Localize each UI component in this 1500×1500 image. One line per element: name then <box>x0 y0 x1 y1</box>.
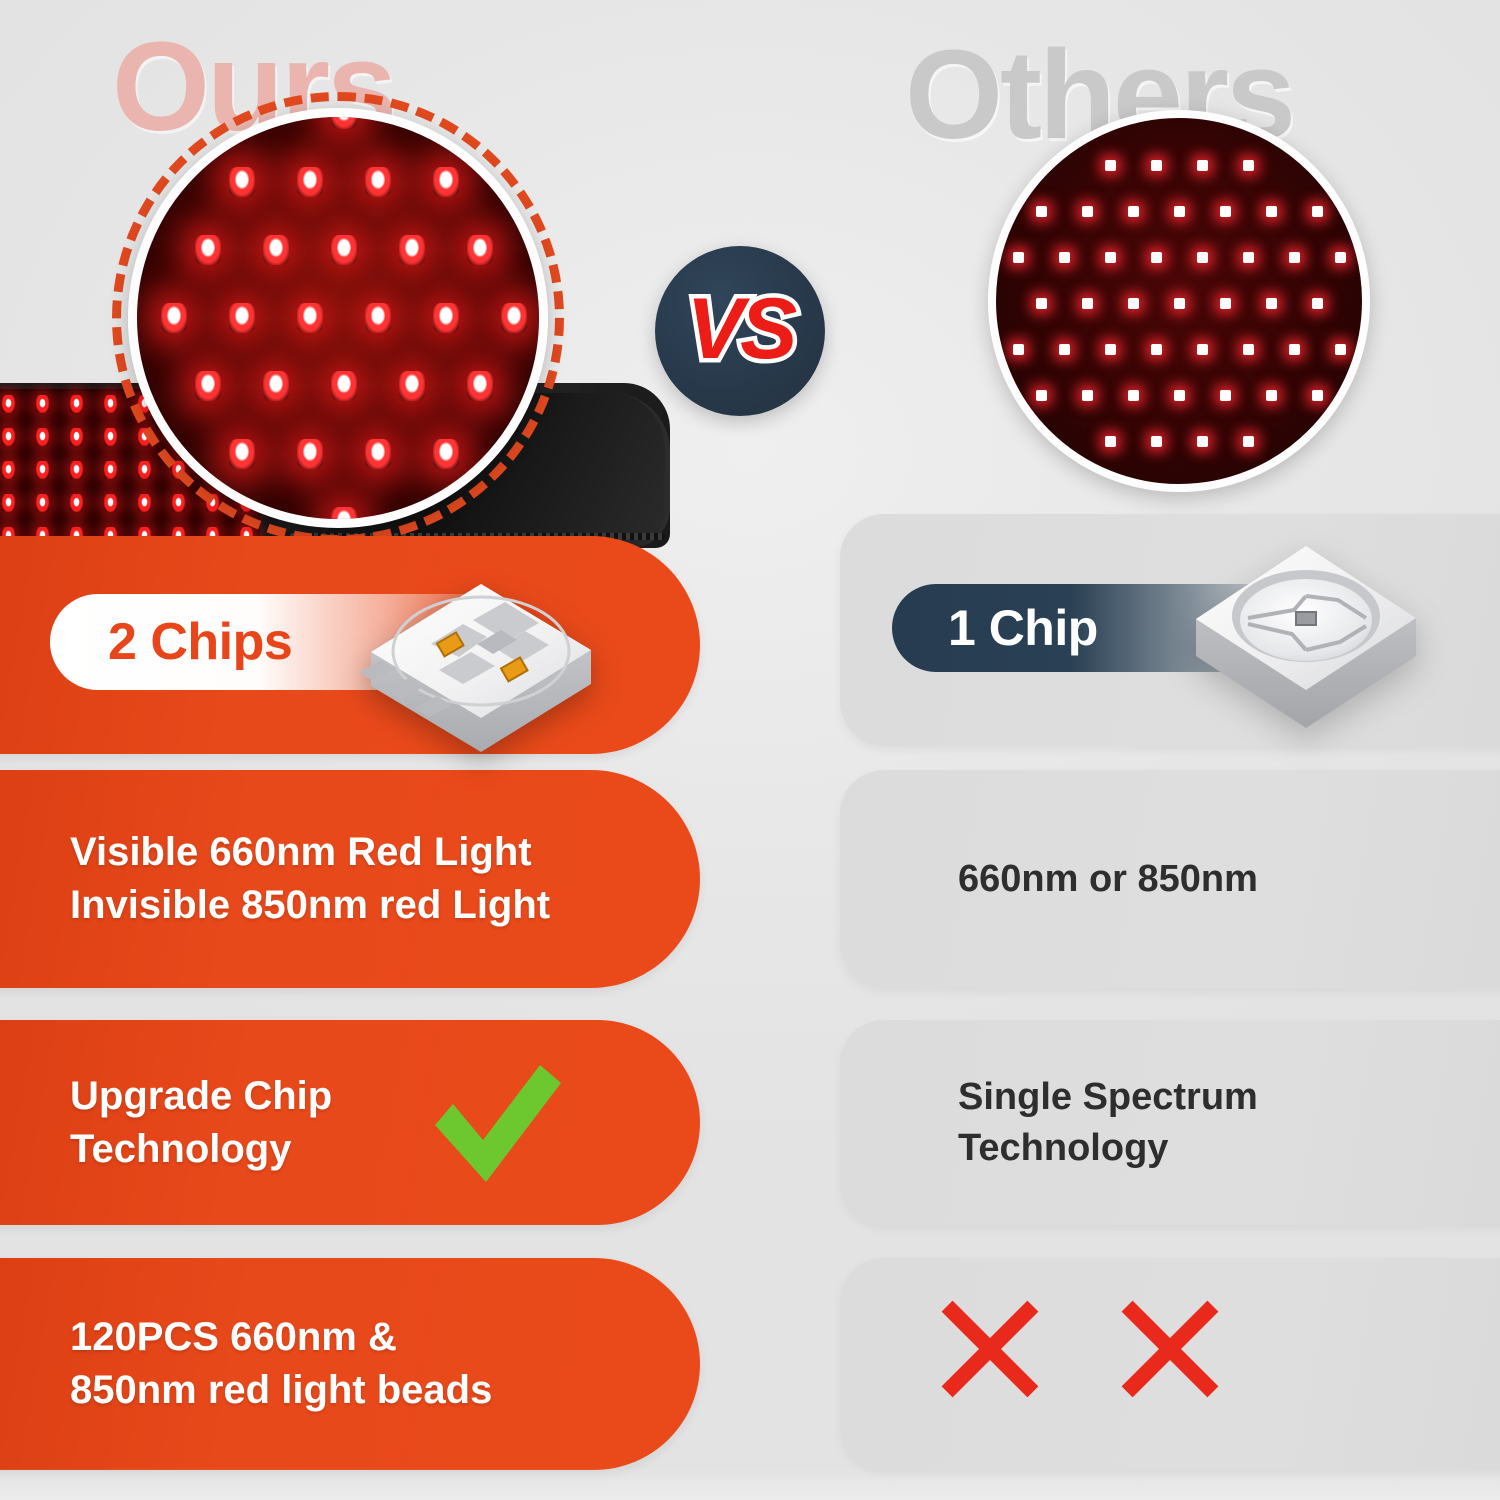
ours-row-beads: 120PCS 660nm & 850nm red light beads <box>0 1258 700 1470</box>
others-led-grid <box>988 110 1370 492</box>
led-dot <box>1082 298 1093 309</box>
vs-badge: VS <box>655 246 825 416</box>
led-dot <box>36 395 49 413</box>
led-dot <box>365 439 391 469</box>
led-dot <box>1335 344 1346 355</box>
ours-led-grid <box>128 108 548 528</box>
led-dot <box>1197 160 1208 171</box>
led-dot <box>1013 344 1024 355</box>
led-dot <box>1174 298 1185 309</box>
led-dot <box>1266 206 1277 217</box>
led-dot <box>36 494 49 512</box>
led-dot <box>1105 436 1116 447</box>
ours-chips-label: 2 Chips <box>50 612 292 672</box>
ours-row-technology: Upgrade Chip Technology <box>0 1020 700 1225</box>
led-dot <box>36 428 49 446</box>
led-dot <box>1105 252 1116 263</box>
led-dot <box>1151 160 1162 171</box>
red-cross-icon <box>1115 1294 1225 1404</box>
two-chip-led-icon <box>335 524 625 759</box>
green-check-icon <box>420 1050 570 1200</box>
led-dot <box>1243 344 1254 355</box>
led-dot <box>1289 344 1300 355</box>
led-dot <box>1266 390 1277 401</box>
led-dot <box>104 428 117 446</box>
led-dot <box>399 371 425 401</box>
led-dot <box>1197 344 1208 355</box>
others-technology-label: Single Spectrum Technology <box>840 1072 1258 1174</box>
led-dot <box>297 303 323 333</box>
one-chip-led-icon <box>1170 484 1440 739</box>
led-dot <box>161 303 187 333</box>
led-dot <box>433 439 459 469</box>
ours-row-chips: 2 Chips <box>0 536 700 754</box>
led-dot <box>70 395 83 413</box>
others-row-wavelength: 660nm or 850nm <box>840 770 1500 988</box>
led-dot <box>433 167 459 197</box>
led-dot <box>104 461 117 479</box>
led-dot <box>1013 252 1024 263</box>
led-dot <box>263 371 289 401</box>
led-dot <box>1151 252 1162 263</box>
led-dot <box>1128 390 1139 401</box>
led-dot <box>1082 390 1093 401</box>
led-dot <box>2 395 15 413</box>
others-magnifier-circle <box>988 110 1370 492</box>
led-dot <box>433 303 459 333</box>
led-dot <box>1105 344 1116 355</box>
led-dot <box>70 494 83 512</box>
led-dot <box>70 461 83 479</box>
led-dot <box>263 235 289 265</box>
led-dot <box>104 494 117 512</box>
led-dot <box>1128 298 1139 309</box>
led-dot <box>1243 252 1254 263</box>
led-dot <box>1289 252 1300 263</box>
led-dot <box>1036 298 1047 309</box>
led-dot <box>2 461 15 479</box>
led-dot <box>229 439 255 469</box>
led-dot <box>365 167 391 197</box>
others-row-technology: Single Spectrum Technology <box>840 1020 1500 1225</box>
led-dot <box>2 494 15 512</box>
led-dot <box>1243 436 1254 447</box>
led-dot <box>1082 206 1093 217</box>
led-dot <box>331 235 357 265</box>
infographic-canvas: Ours Others VS 2 Chips <box>0 0 1500 1500</box>
led-dot <box>399 235 425 265</box>
led-dot <box>195 235 221 265</box>
led-dot <box>1220 298 1231 309</box>
led-dot <box>229 167 255 197</box>
led-dot <box>1220 206 1231 217</box>
led-dot <box>467 235 493 265</box>
led-dot <box>331 371 357 401</box>
led-dot <box>1036 390 1047 401</box>
red-cross-icon <box>935 1294 1045 1404</box>
ours-magnifier-circle <box>128 108 548 528</box>
vs-label: VS <box>687 286 794 372</box>
ours-beads-label: 120PCS 660nm & 850nm red light beads <box>0 1311 492 1417</box>
led-dot <box>1197 436 1208 447</box>
led-dot <box>467 371 493 401</box>
led-dot <box>1243 160 1254 171</box>
led-dot <box>1312 298 1323 309</box>
ours-wavelength-label: Visible 660nm Red Light Invisible 850nm … <box>0 826 550 932</box>
led-dot <box>1174 206 1185 217</box>
led-dot <box>1312 390 1323 401</box>
led-dot <box>331 108 357 129</box>
ours-technology-label: Upgrade Chip Technology <box>0 1070 332 1176</box>
led-dot <box>1174 390 1185 401</box>
others-row-chips: 1 Chip <box>840 514 1500 746</box>
led-dot <box>2 428 15 446</box>
led-dot <box>1197 252 1208 263</box>
led-dot <box>1151 344 1162 355</box>
led-dot <box>1335 252 1346 263</box>
led-dot <box>1059 344 1070 355</box>
led-dot <box>1220 390 1231 401</box>
led-dot <box>501 303 527 333</box>
others-row-beads <box>840 1258 1500 1470</box>
led-dot <box>297 167 323 197</box>
led-dot <box>1105 160 1116 171</box>
led-dot <box>70 428 83 446</box>
led-dot <box>104 395 117 413</box>
others-wavelength-label: 660nm or 850nm <box>840 854 1258 905</box>
led-dot <box>36 461 49 479</box>
led-dot <box>195 371 221 401</box>
led-dot <box>1151 436 1162 447</box>
bottom-fade <box>0 1468 1500 1500</box>
others-cross-group <box>935 1294 1225 1404</box>
others-chip-label: 1 Chip <box>892 599 1098 657</box>
led-dot <box>1036 206 1047 217</box>
ours-row-wavelength: Visible 660nm Red Light Invisible 850nm … <box>0 770 700 988</box>
led-dot <box>1059 252 1070 263</box>
led-dot <box>1312 206 1323 217</box>
led-dot <box>297 439 323 469</box>
led-dot <box>365 303 391 333</box>
led-dot <box>1128 206 1139 217</box>
led-dot <box>229 303 255 333</box>
led-dot <box>1266 298 1277 309</box>
